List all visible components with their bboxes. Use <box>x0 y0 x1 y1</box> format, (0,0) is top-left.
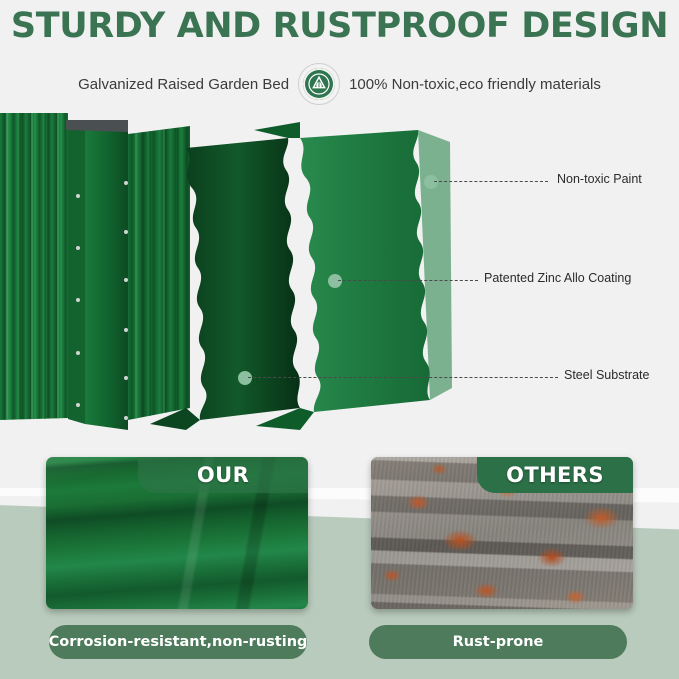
callout-label: Patented Zinc Allo Coating <box>484 271 631 285</box>
subtitle-right-text: 100% Non-toxic,eco friendly materials <box>349 76 601 93</box>
callout-leader-line <box>248 377 558 378</box>
eco-leaf-badge-ring <box>303 68 335 100</box>
page-title: STURDY AND RUSTPROOF DESIGN <box>0 6 679 46</box>
comparison-card-others: OTHERS <box>371 457 633 609</box>
our-caption-pill: Corrosion-resistant,non-rusting <box>49 625 307 659</box>
comparison-card-our: OUR <box>46 457 308 609</box>
product-infographic: STURDY AND RUSTPROOF DESIGN Galvanized R… <box>0 0 679 679</box>
eco-leaf-badge-icon <box>298 63 340 105</box>
subtitle-row: Galvanized Raised Garden Bed 100% Non-to… <box>0 63 679 105</box>
callout-leader-line <box>434 181 548 182</box>
callout-label: Steel Substrate <box>564 368 649 382</box>
others-tab-label: OTHERS <box>477 457 633 493</box>
callout-dot-icon <box>328 274 342 288</box>
callout-leader-line <box>338 280 478 281</box>
callout-dot-icon <box>238 371 252 385</box>
our-tab-label: OUR <box>138 457 308 493</box>
callout-label: Non-toxic Paint <box>557 172 642 186</box>
others-caption-pill: Rust-prone <box>369 625 627 659</box>
subtitle-left-text: Galvanized Raised Garden Bed <box>78 76 289 93</box>
callout-dot-icon <box>424 175 438 189</box>
